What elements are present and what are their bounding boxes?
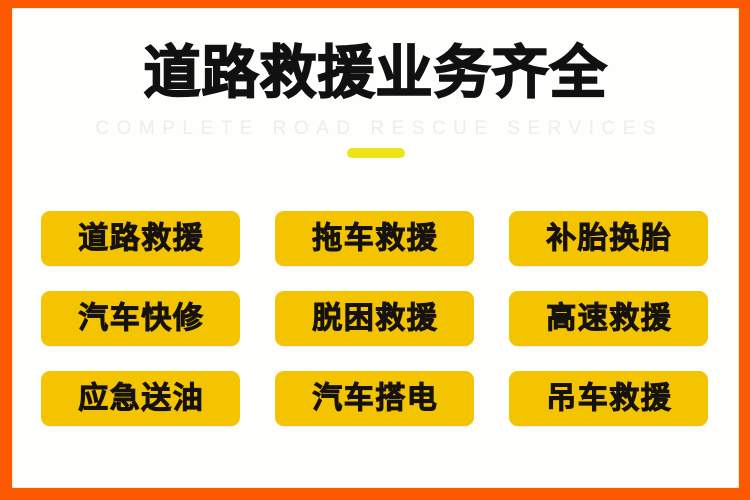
service-button-emergency-fuel-delivery[interactable]: 应急送油	[41, 371, 240, 426]
page-subtitle: COMPLETE ROAD RESCUE SERVICES	[12, 116, 739, 142]
service-button-highway-rescue[interactable]: 高速救援	[509, 291, 708, 346]
service-button-label: 汽车搭电	[311, 384, 439, 414]
service-button-label: 吊车救援	[545, 384, 673, 414]
service-button-label: 补胎换胎	[545, 224, 673, 254]
service-button-label: 汽车快修	[77, 304, 205, 334]
service-button-tire-repair-change[interactable]: 补胎换胎	[509, 211, 708, 266]
service-button-label: 高速救援	[545, 304, 673, 334]
service-button-tow-rescue[interactable]: 拖车救援	[275, 211, 474, 266]
service-button-label: 应急送油	[77, 384, 205, 414]
poster-root: 道路救援业务齐全 COMPLETE ROAD RESCUE SERVICES 道…	[0, 0, 750, 500]
title-divider	[347, 148, 405, 158]
service-button-label: 道路救援	[77, 224, 205, 254]
service-button-grid: 道路救援 拖车救援 补胎换胎 汽车快修 脱困救援 高速救援 应急送油 汽车搭电	[41, 211, 709, 426]
page-title: 道路救援业务齐全	[12, 40, 739, 106]
service-button-crane-rescue[interactable]: 吊车救援	[509, 371, 708, 426]
service-button-jump-start[interactable]: 汽车搭电	[275, 371, 474, 426]
poster-canvas: 道路救援业务齐全 COMPLETE ROAD RESCUE SERVICES 道…	[12, 8, 739, 488]
service-button-quick-car-repair[interactable]: 汽车快修	[41, 291, 240, 346]
service-button-label: 脱困救援	[311, 304, 439, 334]
service-button-label: 拖车救援	[311, 224, 439, 254]
poster-header: 道路救援业务齐全 COMPLETE ROAD RESCUE SERVICES	[12, 8, 739, 198]
service-button-road-rescue[interactable]: 道路救援	[41, 211, 240, 266]
service-button-extrication-rescue[interactable]: 脱困救援	[275, 291, 474, 346]
